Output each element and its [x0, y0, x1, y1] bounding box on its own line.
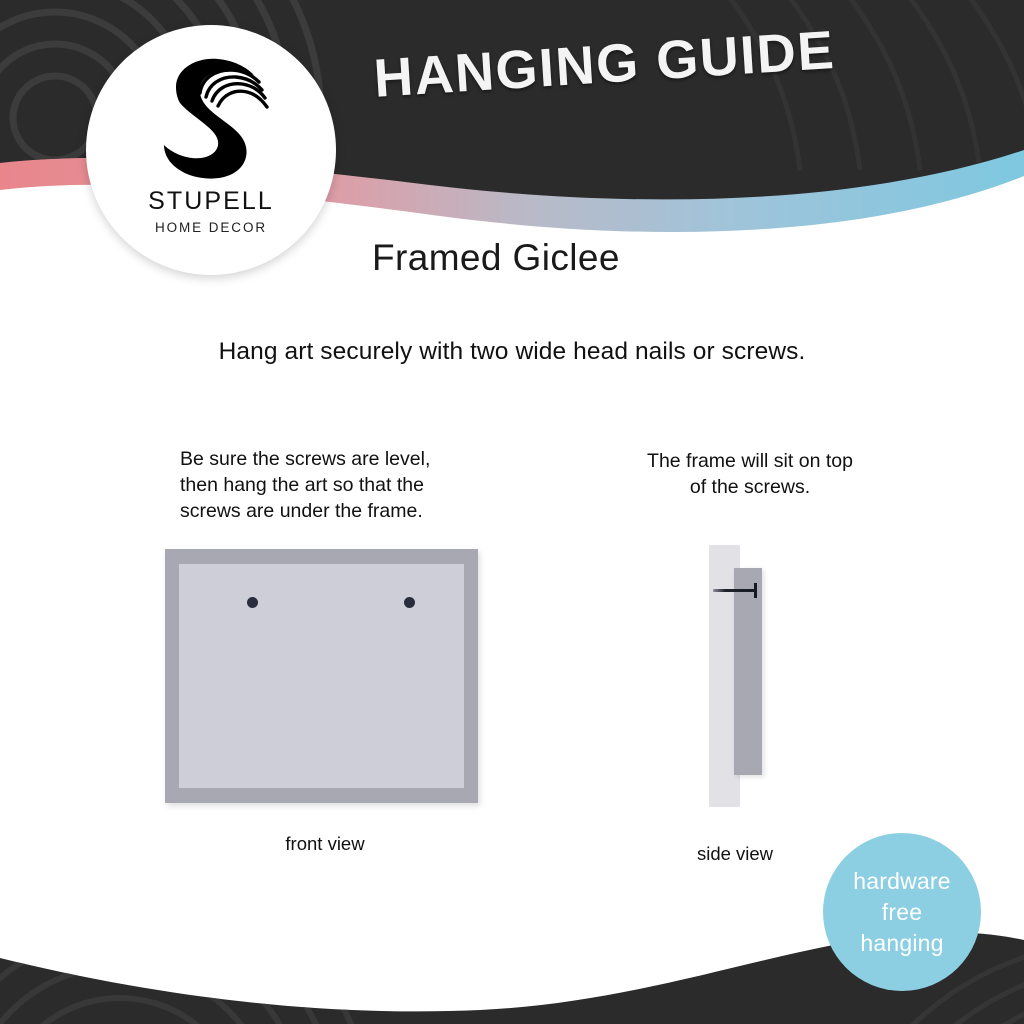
front-view-label: front view	[165, 833, 485, 855]
badge-line-3: hanging	[860, 928, 943, 959]
caption-line: screws are under the frame.	[180, 498, 480, 524]
nail-head-icon	[754, 583, 757, 598]
lede-text: Hang art securely with two wide head nai…	[0, 338, 1024, 366]
badge-line-2: free	[882, 897, 922, 928]
caption-line: Be sure the screws are level,	[180, 446, 480, 472]
brand-logo-badge: STUPELL HOME DECOR	[86, 25, 336, 275]
caption-line: The frame will sit on top	[600, 448, 900, 474]
hanging-guide-page: STUPELL HOME DECOR HANGING GUIDE Framed …	[0, 0, 1024, 1024]
caption-line: of the screws.	[600, 474, 900, 500]
side-view-label: side view	[655, 843, 815, 865]
side-view-caption: The frame will sit on top of the screws.	[600, 448, 900, 500]
product-name: Framed Giclee	[372, 237, 620, 279]
front-view-diagram	[165, 549, 478, 803]
screw-dot-left	[247, 597, 258, 608]
screw-dot-right	[404, 597, 415, 608]
badge-line-1: hardware	[853, 866, 951, 897]
brand-name: STUPELL	[148, 187, 274, 216]
hardware-free-hanging-badge: hardware free hanging	[823, 833, 981, 991]
side-view-diagram	[700, 545, 775, 807]
frame-profile	[734, 568, 762, 775]
nail-icon	[713, 589, 757, 592]
front-view-caption: Be sure the screws are level, then hang …	[180, 446, 480, 524]
caption-line: then hang the art so that the	[180, 472, 480, 498]
stupell-swoosh-logo-icon	[152, 53, 270, 181]
front-view-art-area	[179, 564, 464, 788]
brand-tagline: HOME DECOR	[155, 220, 267, 235]
